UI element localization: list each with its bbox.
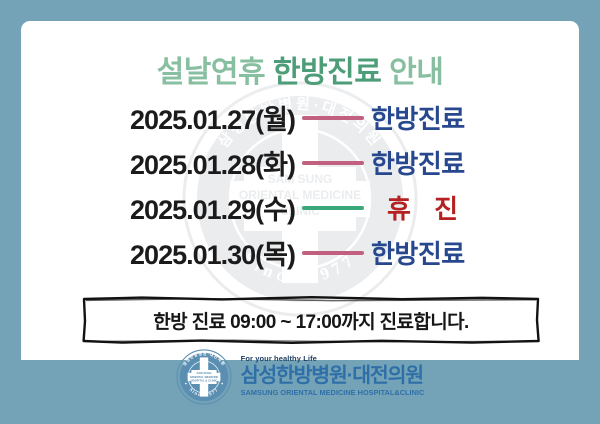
seal-center-line-3: HOSPITAL & CLINIC (190, 379, 217, 383)
hours-text: 한방 진료 09:00 ~ 17:00까지 진료합니다. (153, 307, 468, 334)
schedule-status: 한방진료 (371, 144, 551, 181)
notice-card: SAM SUNG ORIENTAL MEDICINE CLINIC 삼성한방병원… (21, 21, 579, 360)
footer-text-block: For your healthy Life 삼성한방병원·대전의원 SAMSUN… (241, 355, 425, 398)
schedule-list: 2025.01.27(월) 한방진료 2025.01.28(화) 한방진료 20… (21, 95, 579, 275)
schedule-row: 2025.01.30(목) 한방진료 (21, 230, 579, 275)
schedule-status: 한방진료 (371, 234, 551, 271)
footer-brand-en: SAMSUNG ORIENTAL MEDICINE HOSPITAL&CLINI… (241, 389, 425, 396)
title-part-treatment: 한방진료 (273, 56, 381, 89)
footer-logo-block: SAM SUNG ORIENTAL MEDICINE HOSPITAL & CL… (0, 349, 600, 405)
schedule-row: 2025.01.27(월) 한방진료 (21, 95, 579, 140)
schedule-date: 2025.01.27(월) (49, 98, 295, 137)
page-title: 설날연휴 한방진료 안내 (21, 47, 579, 91)
notice-poster: SAM SUNG ORIENTAL MEDICINE CLINIC 삼성한방병원… (0, 0, 600, 424)
title-part-holiday: 설날연휴 (157, 56, 265, 89)
schedule-row: 2025.01.28(화) 한방진료 (21, 140, 579, 185)
schedule-dash-icon (302, 161, 364, 165)
schedule-dash-icon (302, 116, 364, 120)
schedule-date: 2025.01.28(화) (49, 143, 295, 182)
schedule-dash-icon (302, 251, 364, 255)
schedule-date: 2025.01.30(목) (49, 233, 295, 272)
schedule-status: 휴 진 (371, 189, 551, 226)
footer-brand-ko: 삼성한방병원·대전의원 (241, 366, 425, 387)
schedule-status: 한방진료 (371, 99, 551, 136)
hours-box: 한방 진료 09:00 ~ 17:00까지 진료합니다. (82, 296, 540, 344)
footer-tagline: For your healthy Life (241, 355, 425, 363)
seal-icon: SAM SUNG ORIENTAL MEDICINE HOSPITAL & CL… (176, 349, 232, 405)
title-part-notice: 안내 (389, 56, 443, 89)
schedule-date: 2025.01.29(수) (49, 188, 295, 227)
title-space-2 (381, 56, 389, 89)
title-space-1 (265, 56, 273, 89)
schedule-row: 2025.01.29(수) 휴 진 (21, 185, 579, 230)
schedule-dash-icon (302, 206, 364, 210)
